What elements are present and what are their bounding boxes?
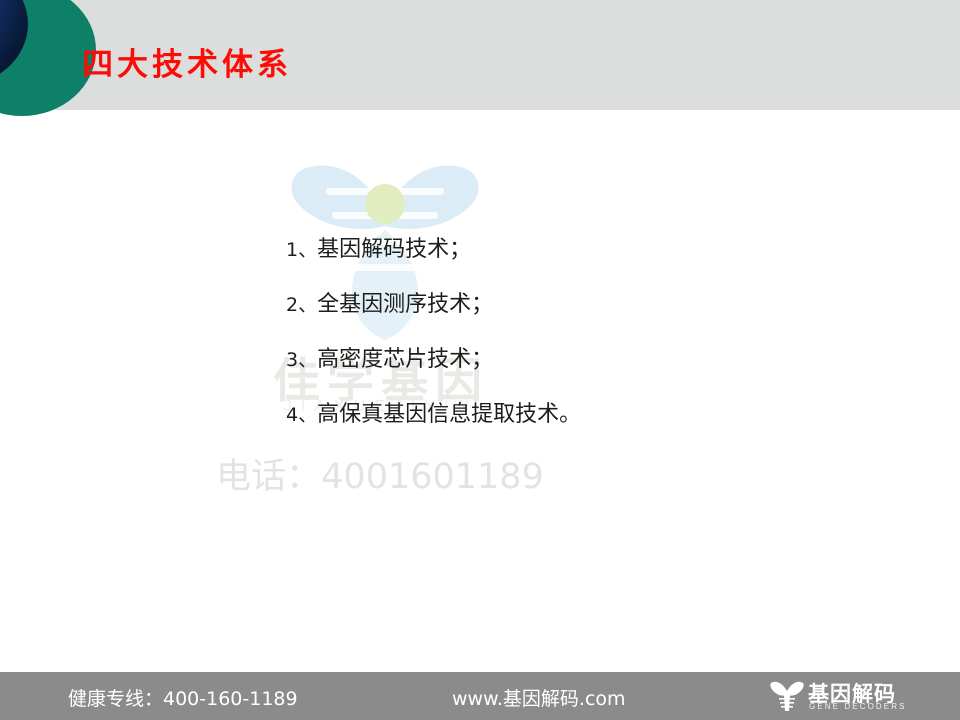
footer-website: www.基因解码.com xyxy=(452,684,626,711)
page-title: 四大技术体系 xyxy=(82,39,292,84)
footer-logo: 基因解码 GENE DECODERS xyxy=(770,678,930,714)
list-item: 4、高保真基因信息提取技术。 xyxy=(286,401,906,429)
list-item-label: 基因解码技术； xyxy=(317,237,471,262)
list-item: 3、高密度芯片技术； xyxy=(286,346,906,374)
gene-decoders-butterfly-icon xyxy=(770,680,804,712)
list-item-label: 高保真基因信息提取技术。 xyxy=(317,402,581,427)
list-item-label: 高密度芯片技术； xyxy=(317,347,493,372)
list-item: 1、基因解码技术； xyxy=(286,236,906,264)
footer-hotline: 健康专线：400-160-1189 xyxy=(68,684,298,711)
list-item-number: 2、 xyxy=(286,294,317,316)
list-item-number: 3、 xyxy=(286,349,317,371)
list-item-number: 1、 xyxy=(286,239,317,261)
list-item: 2、全基因测序技术； xyxy=(286,291,906,319)
slide-header: 四大技术体系 xyxy=(0,0,960,110)
slide-canvas: 四大技术体系 佳学基因 JIAXUEJIYIN 电话：4001601189 1、… xyxy=(0,0,960,720)
dna-globe-icon xyxy=(0,0,28,86)
slide-footer: 健康专线：400-160-1189 www.基因解码.com 基因解码 GENE… xyxy=(0,672,960,720)
technology-list: 1、基因解码技术； 2、全基因测序技术； 3、高密度芯片技术； 4、高保真基因信… xyxy=(286,236,906,456)
list-item-label: 全基因测序技术； xyxy=(317,292,493,317)
dna-globe-strands-icon xyxy=(0,0,28,86)
footer-logo-name-en: GENE DECODERS xyxy=(809,702,907,711)
list-item-number: 4、 xyxy=(286,404,317,426)
